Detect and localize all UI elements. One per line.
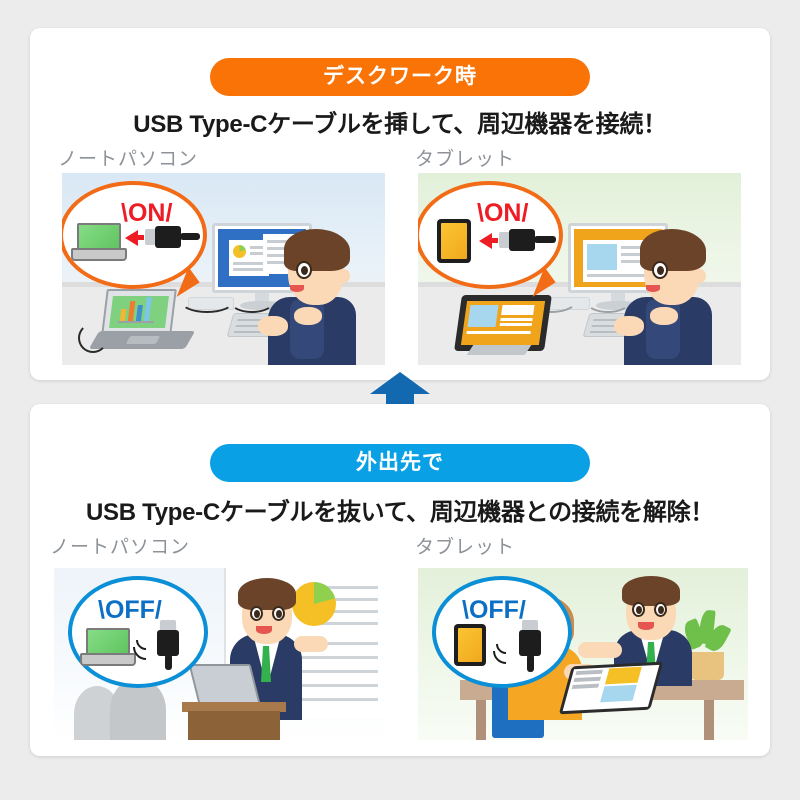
pie-chart-icon	[233, 245, 246, 258]
presenter-mouth	[256, 626, 272, 634]
person-ear	[338, 269, 350, 283]
pie-chart	[292, 582, 336, 626]
person-pupil	[301, 266, 308, 275]
usb-c-connector-body	[519, 630, 541, 656]
person-mouth	[646, 285, 660, 292]
mini-laptop-base	[71, 248, 127, 261]
headline-on-the-go: USB Type-Cケーブルを抜いて、周辺機器との接続を解除！	[30, 492, 770, 527]
usb-c-connector-body	[509, 229, 535, 251]
label-laptop-top: ノートパソコン	[58, 144, 198, 171]
mini-laptop-base	[80, 653, 136, 666]
callout-off-laptop-text: \OFF/	[98, 596, 162, 625]
red-arrow-tail	[490, 238, 498, 243]
meeting-table-leg-left	[476, 700, 486, 740]
badge-desk-work: デスクワーク時	[210, 58, 590, 96]
mini-tablet	[454, 624, 486, 666]
label-tablet-bottom: タブレット	[415, 532, 515, 559]
usb-c-cable	[180, 233, 200, 240]
usb-c-cable	[534, 236, 556, 243]
presenter-hair	[238, 578, 296, 610]
poster-stage: デスクワーク時 USB Type-Cケーブルを挿して、周辺機器を接続！ ノートパ…	[0, 0, 800, 800]
cable-dock-to-monitor	[586, 291, 630, 313]
badge-on-the-go-label: 外出先で	[356, 451, 444, 474]
panel-desk-work: デスクワーク時 USB Type-Cケーブルを挿して、周辺機器を接続！ ノートパ…	[30, 28, 770, 380]
callout-on-tablet: \ON/	[418, 181, 563, 289]
podium	[188, 711, 280, 740]
person-pupil	[657, 266, 664, 275]
man-hand	[578, 642, 622, 658]
person-hand-right	[294, 307, 322, 325]
panel-on-the-go: 外出先で USB Type-Cケーブルを抜いて、周辺機器との接続を解除！ ノート…	[30, 404, 770, 756]
desk-tablet	[454, 295, 552, 351]
meeting-table-leg-right	[704, 700, 714, 740]
badge-desk-work-label: デスクワーク時	[323, 65, 477, 88]
plant-pot	[690, 652, 724, 680]
arrow-head-up	[370, 372, 430, 394]
red-arrow-tail	[136, 235, 144, 240]
illustration-go-tablet: \OFF/	[418, 568, 748, 740]
desk-laptop-screen	[101, 289, 177, 335]
presenter-pupil-right	[276, 610, 282, 618]
man-mouth	[638, 622, 654, 630]
illustration-desk-tablet: \ON/	[418, 173, 741, 365]
callout-off-laptop: \OFF/	[68, 576, 208, 688]
callout-on-laptop-text: \ON/	[121, 199, 172, 228]
person-hair	[284, 229, 350, 271]
person-ear	[694, 269, 706, 283]
man-pupil-right	[658, 606, 664, 614]
callout-off-tablet-text: \OFF/	[462, 596, 526, 625]
meeting-tablet	[559, 662, 663, 715]
person-hand-right	[650, 307, 678, 325]
usb-c-cable	[165, 654, 172, 670]
label-tablet-top: タブレット	[415, 144, 515, 171]
person-hand-left	[614, 316, 644, 336]
man-hair	[622, 576, 680, 606]
callout-off-tablet: \OFF/	[432, 576, 572, 688]
headline-desk-work: USB Type-Cケーブルを挿して、周辺機器を接続！	[30, 104, 770, 139]
laptop-cable	[78, 323, 108, 353]
callout-on-tablet-text: \ON/	[477, 199, 528, 228]
mini-tablet	[437, 219, 471, 263]
callout-on-laptop: \ON/	[62, 181, 207, 289]
person-mouth	[290, 285, 304, 292]
man-pupil-left	[636, 606, 642, 614]
label-laptop-bottom: ノートパソコン	[50, 532, 190, 559]
usb-c-connector-body	[155, 226, 181, 248]
person-hair	[640, 229, 706, 271]
presenter-pupil-left	[254, 610, 260, 618]
illustration-go-laptop: \OFF/	[54, 568, 384, 740]
cable-dock-to-monitor	[230, 291, 274, 313]
person-hand-left	[258, 316, 288, 336]
illustration-desk-laptop: \ON/	[62, 173, 385, 365]
presenter-hand	[294, 636, 328, 652]
usb-c-connector-body	[157, 630, 179, 656]
usb-c-cable	[527, 654, 534, 672]
badge-on-the-go: 外出先で	[210, 444, 590, 482]
tablet-stand	[467, 345, 532, 355]
